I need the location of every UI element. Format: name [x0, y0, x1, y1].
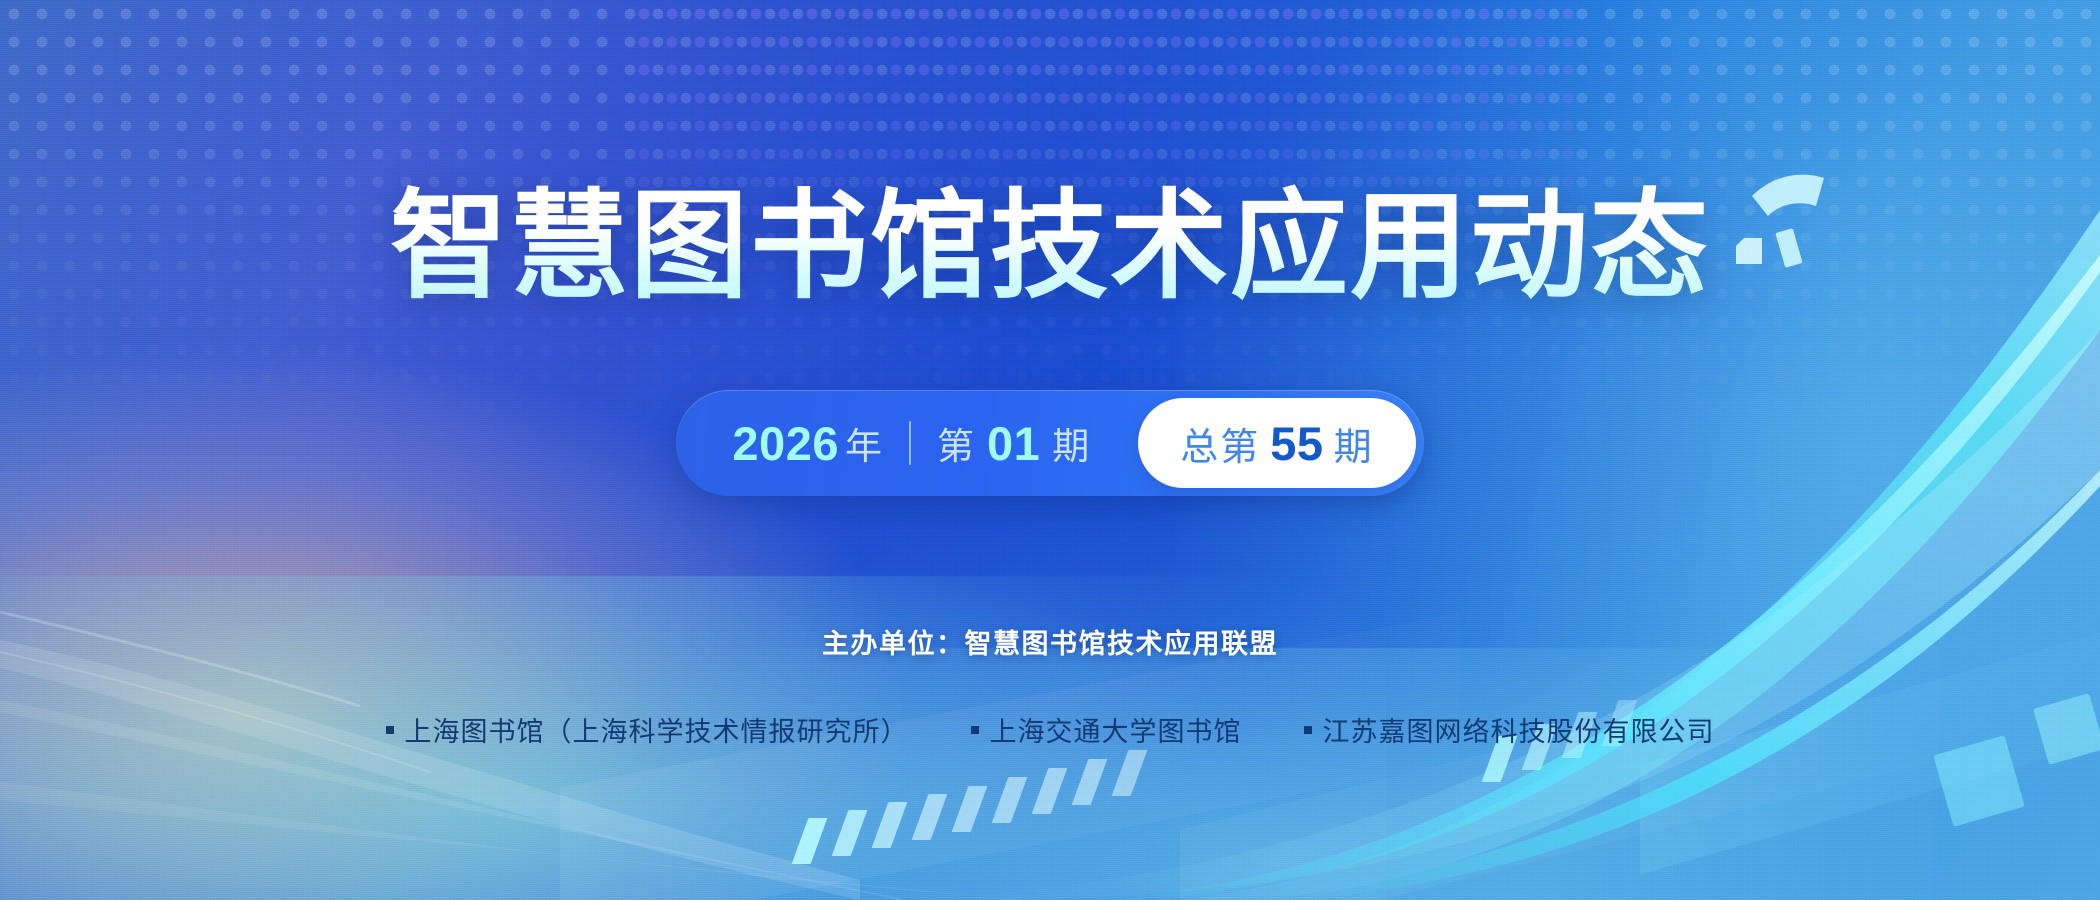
issue-badge-wrap: 2026 年 第 01 期 总第 55 期 — [0, 390, 2100, 496]
host-organization-line: 主办单位：智慧图书馆技术应用联盟 — [0, 622, 2100, 661]
page-title: 智慧图书馆技术应用动态 — [0, 184, 2100, 311]
organization-label: 上海交通大学图书馆 — [990, 710, 1242, 749]
issue-prefix: 第 — [937, 416, 975, 470]
total-issue-number: 55 — [1270, 416, 1323, 471]
issue-badge: 2026 年 第 01 期 总第 55 期 — [676, 390, 1423, 496]
issue-unit: 期 — [1052, 416, 1090, 470]
organization-label: 江苏嘉图网络科技股份有限公司 — [1323, 710, 1715, 749]
banner-root: 智慧图书馆技术应用动态 2026 年 第 01 期 总第 55 期 — [0, 0, 2100, 900]
bullet-square-icon — [971, 726, 979, 734]
organization-item: 江苏嘉图网络科技股份有限公司 — [1304, 710, 1715, 749]
issue-divider — [909, 421, 911, 465]
banner-content: 智慧图书馆技术应用动态 2026 年 第 01 期 总第 55 期 — [0, 0, 2100, 900]
organization-item: 上海图书馆（上海科学技术情报研究所） — [386, 710, 909, 749]
issue-current-group: 2026 年 第 01 期 — [732, 416, 1138, 471]
organization-item: 上海交通大学图书馆 — [971, 710, 1242, 749]
organization-label: 上海图书馆（上海科学技术情报研究所） — [405, 710, 909, 749]
total-issue-prefix: 总第 — [1180, 416, 1260, 471]
bullet-square-icon — [1304, 726, 1312, 734]
issue-number: 01 — [987, 416, 1040, 471]
total-issue-unit: 期 — [1334, 416, 1374, 471]
bullet-square-icon — [386, 726, 394, 734]
issue-year-unit: 年 — [845, 416, 883, 470]
total-issue-pill: 总第 55 期 — [1138, 398, 1415, 488]
organization-list: 上海图书馆（上海科学技术情报研究所） 上海交通大学图书馆 江苏嘉图网络科技股份有… — [0, 710, 2100, 749]
issue-year-number: 2026 — [732, 416, 839, 471]
